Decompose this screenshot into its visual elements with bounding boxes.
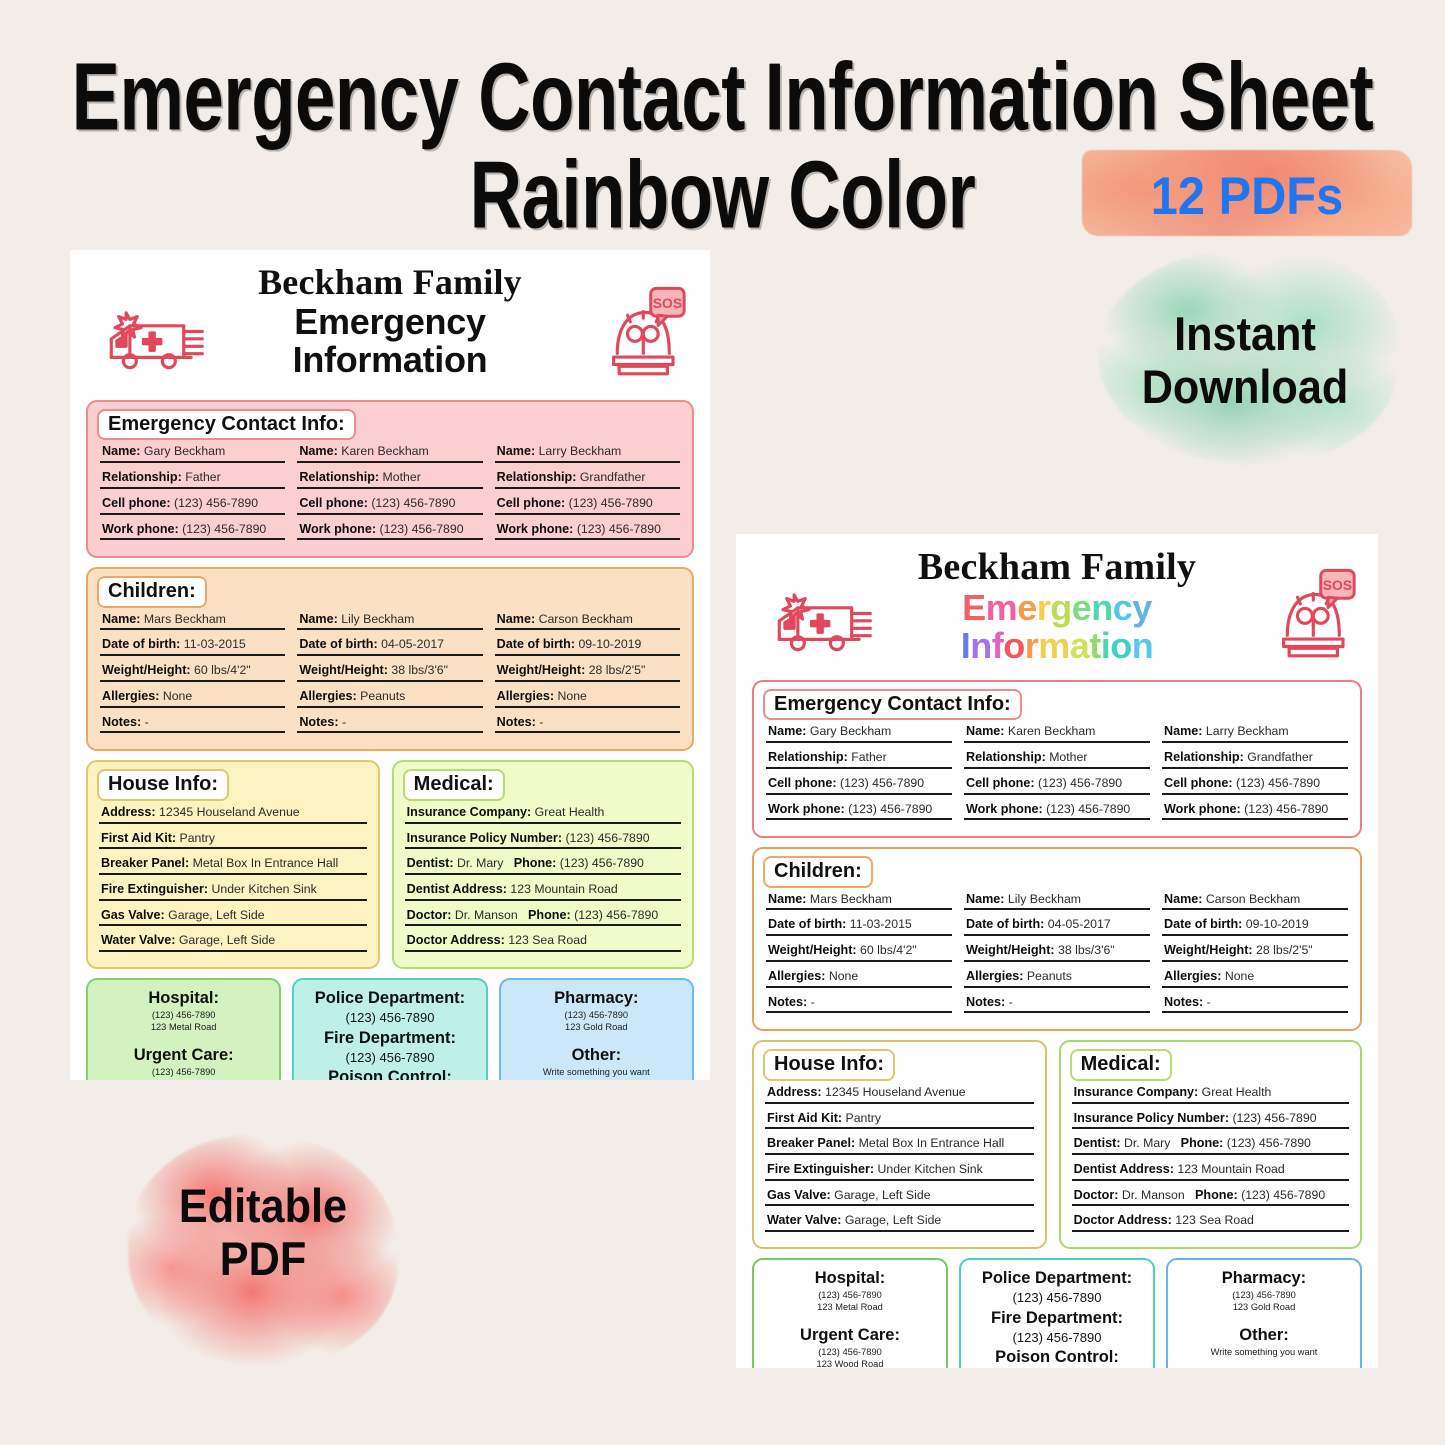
child-allergies-1-label: Allergies: — [966, 969, 1023, 983]
medical-row-5-value: 123 Sea Road — [508, 933, 587, 947]
child-name-0-value: Mars Beckham — [144, 612, 226, 626]
medical-row-1[interactable]: Insurance Policy Number: (123) 456-7890 — [405, 831, 681, 850]
child-notes-1[interactable]: Notes: - — [964, 995, 1150, 1014]
house-row-3[interactable]: Fire Extinguisher: Under Kitchen Sink — [765, 1162, 1034, 1181]
contact-cell-2[interactable]: Cell phone: (123) 456-7890 — [495, 496, 680, 515]
child-dob-1[interactable]: Date of birth: 04-05-2017 — [964, 917, 1150, 936]
child-allergies-2[interactable]: Allergies: None — [1162, 969, 1348, 988]
hospital-phone: (123) 456-7890 — [760, 1289, 940, 1301]
medical-row-2[interactable]: Dentist: Dr. Mary Phone: (123) 456-7890 — [405, 856, 681, 875]
document-header: SOS Beckham Family Emergency Information — [70, 250, 710, 400]
child-notes-1-value: - — [1009, 995, 1013, 1009]
poison-heading: Poison Control: — [967, 1348, 1147, 1367]
child-name-2[interactable]: Name: Carson Beckham — [495, 612, 680, 631]
pharmacy-phone: (123) 456-7890 — [507, 1009, 686, 1021]
contact-name-2-value: Larry Beckham — [539, 444, 622, 458]
medical-row-3-label: Dentist Address: — [407, 882, 507, 896]
contact-work-0[interactable]: Work phone: (123) 456-7890 — [766, 802, 952, 821]
section-children: Children: Name: Mars Beckham Date of bir… — [86, 567, 694, 751]
contact-work-1[interactable]: Work phone: (123) 456-7890 — [297, 522, 482, 541]
child-name-0[interactable]: Name: Mars Beckham — [100, 612, 285, 631]
box-police-fire[interactable]: Police Department: (123) 456-7890 Fire D… — [292, 978, 487, 1080]
section-medical: Medical: Insurance Company: Great Health… — [392, 760, 694, 969]
child-name-0-label: Name: — [768, 892, 807, 906]
house-row-3-label: Fire Extinguisher: — [767, 1162, 874, 1176]
poison-heading: Poison Control: — [300, 1068, 479, 1080]
contact-work-0-value: (123) 456-7890 — [848, 802, 932, 816]
child-wh-1[interactable]: Weight/Height: 38 lbs/3'6" — [297, 663, 482, 682]
contact-work-1[interactable]: Work phone: (123) 456-7890 — [964, 802, 1150, 821]
house-row-2-value: Metal Box In Entrance Hall — [859, 1136, 1005, 1150]
badge-pdf-count: 12 PDFs — [1095, 166, 1399, 227]
contact-relationship-2[interactable]: Relationship: Grandfather — [495, 470, 680, 489]
pharmacy-phone: (123) 456-7890 — [1174, 1289, 1354, 1301]
child-dob-2-value: 09-10-2019 — [578, 637, 641, 651]
section-title-contact: Emergency Contact Info: — [97, 409, 356, 440]
child-allergies-0-label: Allergies: — [102, 689, 159, 703]
section-title-children: Children: — [763, 856, 873, 887]
medical-row-3-label: Dentist Address: — [1074, 1162, 1174, 1176]
contact-name-1[interactable]: Name: Karen Beckham — [297, 444, 482, 463]
medical-row-1-value: (123) 456-7890 — [565, 831, 649, 845]
child-notes-2-label: Notes: — [497, 715, 536, 729]
medical-row-0[interactable]: Insurance Company: Great Health — [405, 805, 681, 824]
urgent-care-heading: Urgent Care: — [94, 1046, 273, 1065]
hospital-heading: Hospital: — [94, 989, 273, 1008]
house-row-0[interactable]: Address: 12345 Houseland Avenue — [765, 1085, 1034, 1104]
child-allergies-1-value: Peanuts — [360, 689, 405, 703]
child-name-0-value: Mars Beckham — [810, 892, 892, 906]
contact-relationship-0[interactable]: Relationship: Father — [100, 470, 285, 489]
child-dob-1-value: 04-05-2017 — [1048, 917, 1111, 931]
section-medical: Medical: Insurance Company: Great Health… — [1059, 1040, 1362, 1249]
contact-name-2-value: Larry Beckham — [1206, 724, 1289, 738]
child-allergies-0-label: Allergies: — [768, 969, 825, 983]
pharmacy-heading: Pharmacy: — [1174, 1269, 1354, 1288]
contact-work-2-label: Work phone: — [1164, 802, 1241, 816]
child-name-2-value: Carson Beckham — [1206, 892, 1300, 906]
contact-name-0-value: Gary Beckham — [810, 724, 891, 738]
child-allergies-1-value: Peanuts — [1027, 969, 1072, 983]
child-wh-1[interactable]: Weight/Height: 38 lbs/3'6" — [964, 943, 1150, 962]
child-allergies-0-value: None — [163, 689, 192, 703]
child-notes-2-value: - — [539, 715, 543, 729]
police-heading: Police Department: — [967, 1269, 1147, 1288]
section-title-house: House Info: — [763, 1049, 895, 1080]
medical-row-3-value: 123 Mountain Road — [1177, 1162, 1284, 1176]
child-dob-2-label: Date of birth: — [1164, 917, 1242, 931]
child-dob-1-label: Date of birth: — [299, 637, 377, 651]
medical-row-4[interactable]: Doctor: Dr. Manson Phone: (123) 456-7890 — [405, 908, 681, 927]
child-column: Name: Lily Beckham Date of birth: 04-05-… — [297, 612, 482, 741]
contact-name-0[interactable]: Name: Gary Beckham — [100, 444, 285, 463]
child-allergies-2[interactable]: Allergies: None — [495, 689, 680, 708]
badge-instant-line-2: Download — [1093, 361, 1397, 414]
child-notes-1-label: Notes: — [299, 715, 338, 729]
fire-phone: (123) 456-7890 — [967, 1329, 1147, 1347]
contact-cell-1-label: Cell phone: — [966, 776, 1035, 790]
section-emergency-contact: Emergency Contact Info: Name: Gary Beckh… — [86, 400, 694, 558]
police-phone: (123) 456-7890 — [967, 1289, 1147, 1307]
section-title-medical: Medical: — [403, 769, 505, 800]
child-wh-2[interactable]: Weight/Height: 28 lbs/2'5" — [1162, 943, 1348, 962]
house-row-2[interactable]: Breaker Panel: Metal Box In Entrance Hal… — [765, 1136, 1034, 1155]
section-title-contact: Emergency Contact Info: — [763, 689, 1022, 720]
house-row-0-value: 12345 Houseland Avenue — [159, 805, 300, 819]
house-medical-row: House Info: Address: 12345 Houseland Ave… — [752, 1040, 1362, 1249]
pharmacy-address: 123 Gold Road — [507, 1021, 686, 1033]
child-notes-1-label: Notes: — [966, 995, 1005, 1009]
house-row-2-label: Breaker Panel: — [101, 856, 189, 870]
child-allergies-1-label: Allergies: — [299, 689, 356, 703]
contact-relationship-2-value: Grandfather — [580, 470, 646, 484]
child-notes-2[interactable]: Notes: - — [1162, 995, 1348, 1014]
house-row-1-value: Pantry — [846, 1111, 882, 1125]
svg-text:SOS: SOS — [653, 295, 682, 311]
contact-name-0[interactable]: Name: Gary Beckham — [766, 724, 952, 743]
contact-cell-1-value: (123) 456-7890 — [1038, 776, 1122, 790]
medical-row-5[interactable]: Doctor Address: 123 Sea Road — [1072, 1213, 1349, 1232]
contact-relationship-1-value: Mother — [1049, 750, 1087, 764]
child-allergies-0-value: None — [829, 969, 858, 983]
child-dob-2-value: 09-10-2019 — [1246, 917, 1309, 931]
sos-alarm-icon: SOS — [1278, 566, 1356, 662]
house-row-4-label: Gas Valve: — [767, 1188, 831, 1202]
house-row-3-label: Fire Extinguisher: — [101, 882, 208, 896]
section-title-house: House Info: — [97, 769, 229, 800]
child-name-0[interactable]: Name: Mars Beckham — [766, 892, 952, 911]
child-notes-1-value: - — [342, 715, 346, 729]
police-phone: (123) 456-7890 — [300, 1009, 479, 1027]
urgent-care-address: 123 Wood Road — [760, 1358, 940, 1368]
contact-relationship-0-value: Father — [851, 750, 887, 764]
contact-work-0-label: Work phone: — [768, 802, 845, 816]
child-column: Name: Lily Beckham Date of birth: 04-05-… — [964, 892, 1150, 1021]
contact-work-1-label: Work phone: — [966, 802, 1043, 816]
contact-cell-0-label: Cell phone: — [102, 496, 171, 510]
child-name-0-label: Name: — [102, 612, 141, 626]
child-column: Name: Mars Beckham Date of birth: 11-03-… — [766, 892, 952, 1021]
poster-canvas: Emergency Contact Information Sheet Rain… — [0, 0, 1445, 1445]
house-row-3-value: Under Kitchen Sink — [878, 1162, 983, 1176]
hospital-phone: (123) 456-7890 — [94, 1009, 273, 1021]
house-row-1[interactable]: First Aid Kit: Pantry — [99, 831, 367, 850]
house-row-5[interactable]: Water Valve: Garage, Left Side — [99, 933, 367, 952]
child-name-1[interactable]: Name: Lily Beckham — [964, 892, 1150, 911]
child-dob-2[interactable]: Date of birth: 09-10-2019 — [1162, 917, 1348, 936]
medical-row-0-value: Great Health — [1202, 1085, 1272, 1099]
document-preview-rainbow[interactable]: SOS Beckham Family Emergency Information… — [736, 534, 1378, 1368]
child-notes-0-label: Notes: — [102, 715, 141, 729]
house-row-0-label: Address: — [767, 1085, 822, 1099]
contact-name-0-label: Name: — [768, 724, 807, 738]
contact-relationship-2[interactable]: Relationship: Grandfather — [1162, 750, 1348, 769]
other-note: Write something you want — [507, 1066, 686, 1078]
contact-column: Name: Gary Beckham Relationship: Father … — [766, 724, 952, 827]
house-row-4-value: Garage, Left Side — [168, 908, 264, 922]
contact-name-1-value: Karen Beckham — [341, 444, 429, 458]
contact-cell-1[interactable]: Cell phone: (123) 456-7890 — [297, 496, 482, 515]
child-wh-1-value: 38 lbs/3'6" — [391, 663, 448, 677]
medical-row-1-label: Insurance Policy Number: — [407, 831, 562, 845]
contact-relationship-0-value: Father — [185, 470, 221, 484]
child-wh-1-label: Weight/Height: — [966, 943, 1055, 957]
child-wh-2-value: 28 lbs/2'5" — [1256, 943, 1313, 957]
child-wh-1-label: Weight/Height: — [299, 663, 388, 677]
house-row-3-value: Under Kitchen Sink — [212, 882, 317, 896]
child-column: Name: Carson Beckham Date of birth: 09-1… — [1162, 892, 1348, 1021]
house-row-5[interactable]: Water Valve: Garage, Left Side — [765, 1213, 1034, 1232]
child-notes-0-value: - — [145, 715, 149, 729]
contact-cell-2[interactable]: Cell phone: (123) 456-7890 — [1162, 776, 1348, 795]
section-title-children: Children: — [97, 576, 207, 607]
child-column: Name: Carson Beckham Date of birth: 09-1… — [495, 612, 680, 741]
contact-relationship-2-value: Grandfather — [1247, 750, 1313, 764]
contact-name-2-label: Name: — [1164, 724, 1203, 738]
child-wh-1-value: 38 lbs/3'6" — [1058, 943, 1115, 957]
child-dob-1[interactable]: Date of birth: 04-05-2017 — [297, 637, 482, 656]
child-wh-0[interactable]: Weight/Height: 60 lbs/4'2" — [100, 663, 285, 682]
ambulance-icon — [98, 298, 210, 376]
contact-name-1-label: Name: — [299, 444, 338, 458]
section-title-medical: Medical: — [1070, 1049, 1172, 1080]
contact-name-2[interactable]: Name: Larry Beckham — [495, 444, 680, 463]
urgent-care-phone: (123) 456-7890 — [760, 1346, 940, 1358]
child-allergies-2-label: Allergies: — [1164, 969, 1221, 983]
contact-name-0-value: Gary Beckham — [144, 444, 225, 458]
child-name-2-value: Carson Beckham — [539, 612, 633, 626]
svg-text:SOS: SOS — [1323, 577, 1352, 593]
contact-cell-1[interactable]: Cell phone: (123) 456-7890 — [964, 776, 1150, 795]
house-row-0[interactable]: Address: 12345 Houseland Avenue — [99, 805, 367, 824]
fire-phone: (123) 456-7890 — [300, 1049, 479, 1067]
house-row-1-value: Pantry — [180, 831, 216, 845]
house-row-3[interactable]: Fire Extinguisher: Under Kitchen Sink — [99, 882, 367, 901]
house-row-1-label: First Aid Kit: — [101, 831, 176, 845]
child-name-2-label: Name: — [497, 612, 536, 626]
contact-name-2[interactable]: Name: Larry Beckham — [1162, 724, 1348, 743]
contact-relationship-1-label: Relationship: — [966, 750, 1046, 764]
contact-cell-0[interactable]: Cell phone: (123) 456-7890 — [766, 776, 952, 795]
ambulance-icon — [766, 580, 878, 658]
contact-work-0-label: Work phone: — [102, 522, 179, 536]
contact-relationship-1[interactable]: Relationship: Mother — [964, 750, 1150, 769]
title-line-1: Emergency Contact Information Sheet — [51, 50, 1395, 143]
section-house-info: House Info: Address: 12345 Houseland Ave… — [86, 760, 380, 969]
other-note: Write something you want — [1174, 1346, 1354, 1358]
house-row-4[interactable]: Gas Valve: Garage, Left Side — [99, 908, 367, 927]
ambulance-icon-svg — [98, 298, 210, 376]
contact-cell-2-label: Cell phone: — [497, 496, 566, 510]
child-wh-0[interactable]: Weight/Height: 60 lbs/4'2" — [766, 943, 952, 962]
house-row-4-label: Gas Valve: — [101, 908, 165, 922]
house-row-5-label: Water Valve: — [767, 1213, 841, 1227]
contact-cell-0[interactable]: Cell phone: (123) 456-7890 — [100, 496, 285, 515]
child-wh-0-label: Weight/Height: — [102, 663, 191, 677]
medical-row-0[interactable]: Insurance Company: Great Health — [1072, 1085, 1349, 1104]
child-name-1-label: Name: — [299, 612, 338, 626]
fire-heading: Fire Department: — [300, 1029, 479, 1048]
contact-work-2-value: (123) 456-7890 — [1244, 802, 1328, 816]
contact-relationship-1-label: Relationship: — [299, 470, 379, 484]
hospital-address: 123 Metal Road — [760, 1301, 940, 1313]
medical-row-0-label: Insurance Company: — [1074, 1085, 1199, 1099]
child-notes-0[interactable]: Notes: - — [100, 715, 285, 734]
medical-row-0-value: Great Health — [535, 805, 605, 819]
child-wh-2-label: Weight/Height: — [1164, 943, 1253, 957]
ambulance-icon-svg — [766, 580, 878, 658]
contact-column: Name: Larry Beckham Relationship: Grandf… — [495, 444, 680, 547]
contact-work-0-value: (123) 456-7890 — [182, 522, 266, 536]
child-notes-1[interactable]: Notes: - — [297, 715, 482, 734]
contact-work-1-value: (123) 456-7890 — [379, 522, 463, 536]
house-row-2[interactable]: Breaker Panel: Metal Box In Entrance Hal… — [99, 856, 367, 875]
medical-row-4[interactable]: Doctor: Dr. Manson Phone: (123) 456-7890 — [1072, 1188, 1349, 1207]
child-wh-2-value: 28 lbs/2'5" — [589, 663, 646, 677]
house-row-1-label: First Aid Kit: — [767, 1111, 842, 1125]
child-wh-2-label: Weight/Height: — [497, 663, 586, 677]
medical-row-5[interactable]: Doctor Address: 123 Sea Road — [405, 933, 681, 952]
medical-row-5-value: 123 Sea Road — [1175, 1213, 1254, 1227]
section-emergency-contact: Emergency Contact Info: Name: Gary Beckh… — [752, 680, 1362, 838]
contact-work-0[interactable]: Work phone: (123) 456-7890 — [100, 522, 285, 541]
medical-row-3[interactable]: Dentist Address: 123 Mountain Road — [1072, 1162, 1349, 1181]
child-dob-0-label: Date of birth: — [768, 917, 846, 931]
box-hospital[interactable]: Hospital: (123) 456-7890 123 Metal Road … — [86, 978, 281, 1080]
medical-row-1-label: Insurance Policy Number: — [1074, 1111, 1229, 1125]
contact-cell-0-value: (123) 456-7890 — [174, 496, 258, 510]
contact-column: Name: Karen Beckham Relationship: Mother… — [964, 724, 1150, 827]
child-wh-0-value: 60 lbs/4'2" — [194, 663, 251, 677]
contact-work-2[interactable]: Work phone: (123) 456-7890 — [495, 522, 680, 541]
child-allergies-2-label: Allergies: — [497, 689, 554, 703]
child-dob-2-label: Date of birth: — [497, 637, 575, 651]
police-heading: Police Department: — [300, 989, 479, 1008]
sos-alarm-icon-svg: SOS — [1278, 566, 1356, 662]
box-police-fire[interactable]: Police Department: (123) 456-7890 Fire D… — [959, 1258, 1155, 1368]
medical-row-3-value: 123 Mountain Road — [510, 882, 617, 896]
section-children: Children: Name: Mars Beckham Date of bir… — [752, 847, 1362, 1031]
house-row-0-value: 12345 Houseland Avenue — [825, 1085, 966, 1099]
contact-relationship-2-label: Relationship: — [497, 470, 577, 484]
contact-relationship-0-label: Relationship: — [102, 470, 182, 484]
child-notes-2-label: Notes: — [1164, 995, 1203, 1009]
box-pharmacy[interactable]: Pharmacy: (123) 456-7890 123 Gold Road O… — [499, 978, 694, 1080]
child-dob-0-value: 11-03-2015 — [184, 637, 246, 651]
document-preview-pastel[interactable]: SOS Beckham Family Emergency Information… — [70, 250, 710, 1080]
house-row-5-value: Garage, Left Side — [179, 933, 275, 947]
child-allergies-2-value: None — [557, 689, 586, 703]
child-notes-2-value: - — [1207, 995, 1211, 1009]
medical-row-3[interactable]: Dentist Address: 123 Mountain Road — [405, 882, 681, 901]
fire-heading: Fire Department: — [967, 1309, 1147, 1328]
child-wh-2[interactable]: Weight/Height: 28 lbs/2'5" — [495, 663, 680, 682]
urgent-care-address: 123 Wood Road — [94, 1078, 273, 1080]
house-row-5-value: Garage, Left Side — [845, 1213, 941, 1227]
contact-work-1-value: (123) 456-7890 — [1046, 802, 1130, 816]
house-row-1[interactable]: First Aid Kit: Pantry — [765, 1111, 1034, 1130]
house-row-0-label: Address: — [101, 805, 156, 819]
child-allergies-1[interactable]: Allergies: Peanuts — [964, 969, 1150, 988]
hospital-heading: Hospital: — [760, 1269, 940, 1288]
contact-work-2-value: (123) 456-7890 — [577, 522, 661, 536]
contact-name-1[interactable]: Name: Karen Beckham — [964, 724, 1150, 743]
child-allergies-2-value: None — [1225, 969, 1254, 983]
medical-row-5-label: Doctor Address: — [1074, 1213, 1172, 1227]
child-dob-0[interactable]: Date of birth: 11-03-2015 — [766, 917, 952, 936]
contact-cell-2-value: (123) 456-7890 — [569, 496, 653, 510]
house-row-4[interactable]: Gas Valve: Garage, Left Side — [765, 1188, 1034, 1207]
child-allergies-0[interactable]: Allergies: None — [766, 969, 952, 988]
contact-name-2-label: Name: — [497, 444, 536, 458]
child-allergies-0[interactable]: Allergies: None — [100, 689, 285, 708]
child-wh-0-label: Weight/Height: — [768, 943, 857, 957]
badge-editable-pdf: Editable PDF — [130, 1180, 397, 1285]
house-row-2-label: Breaker Panel: — [767, 1136, 855, 1150]
badge-instant-download: Instant Download — [1093, 308, 1397, 413]
contact-relationship-1[interactable]: Relationship: Mother — [297, 470, 482, 489]
section-house-info: House Info: Address: 12345 Houseland Ave… — [752, 1040, 1047, 1249]
badge-editable-line-1: Editable — [130, 1180, 397, 1233]
contact-column: Name: Karen Beckham Relationship: Mother… — [297, 444, 482, 547]
services-row: Hospital: (123) 456-7890 123 Metal Road … — [752, 1258, 1362, 1368]
child-name-2[interactable]: Name: Carson Beckham — [1162, 892, 1348, 911]
other-heading: Other: — [507, 1046, 686, 1065]
services-row: Hospital: (123) 456-7890 123 Metal Road … — [86, 978, 694, 1080]
urgent-care-heading: Urgent Care: — [760, 1326, 940, 1345]
medical-row-1[interactable]: Insurance Policy Number: (123) 456-7890 — [1072, 1111, 1349, 1130]
child-name-1[interactable]: Name: Lily Beckham — [297, 612, 482, 631]
contact-relationship-0-label: Relationship: — [768, 750, 848, 764]
contact-column: Name: Gary Beckham Relationship: Father … — [100, 444, 285, 547]
house-row-5-label: Water Valve: — [101, 933, 175, 947]
child-name-1-label: Name: — [966, 892, 1005, 906]
contact-cell-0-label: Cell phone: — [768, 776, 837, 790]
child-allergies-1[interactable]: Allergies: Peanuts — [297, 689, 482, 708]
child-dob-2[interactable]: Date of birth: 09-10-2019 — [495, 637, 680, 656]
contact-work-2[interactable]: Work phone: (123) 456-7890 — [1162, 802, 1348, 821]
pharmacy-heading: Pharmacy: — [507, 989, 686, 1008]
box-hospital[interactable]: Hospital: (123) 456-7890 123 Metal Road … — [752, 1258, 948, 1368]
child-notes-0[interactable]: Notes: - — [766, 995, 952, 1014]
child-notes-0-label: Notes: — [768, 995, 807, 1009]
house-row-2-value: Metal Box In Entrance Hall — [193, 856, 339, 870]
child-name-2-label: Name: — [1164, 892, 1203, 906]
house-medical-row: House Info: Address: 12345 Houseland Ave… — [86, 760, 694, 969]
child-dob-0-label: Date of birth: — [102, 637, 180, 651]
contact-work-1-label: Work phone: — [299, 522, 376, 536]
sos-alarm-icon: SOS — [608, 284, 686, 380]
child-notes-2[interactable]: Notes: - — [495, 715, 680, 734]
child-dob-1-value: 04-05-2017 — [381, 637, 444, 651]
document-header: SOS Beckham Family Emergency Information — [736, 534, 1378, 680]
contact-relationship-1-value: Mother — [383, 470, 421, 484]
contact-relationship-0[interactable]: Relationship: Father — [766, 750, 952, 769]
box-pharmacy[interactable]: Pharmacy: (123) 456-7890 123 Gold Road O… — [1166, 1258, 1362, 1368]
contact-work-2-label: Work phone: — [497, 522, 574, 536]
contact-name-0-label: Name: — [102, 444, 141, 458]
medical-row-0-label: Insurance Company: — [407, 805, 532, 819]
medical-row-2[interactable]: Dentist: Dr. Mary Phone: (123) 456-7890 — [1072, 1136, 1349, 1155]
child-dob-0[interactable]: Date of birth: 11-03-2015 — [100, 637, 285, 656]
contact-name-1-value: Karen Beckham — [1008, 724, 1096, 738]
child-name-1-value: Lily Beckham — [341, 612, 414, 626]
contact-cell-2-label: Cell phone: — [1164, 776, 1233, 790]
child-dob-0-value: 11-03-2015 — [850, 917, 912, 931]
medical-row-5-label: Doctor Address: — [407, 933, 505, 947]
contact-cell-0-value: (123) 456-7890 — [840, 776, 924, 790]
hospital-address: 123 Metal Road — [94, 1021, 273, 1033]
